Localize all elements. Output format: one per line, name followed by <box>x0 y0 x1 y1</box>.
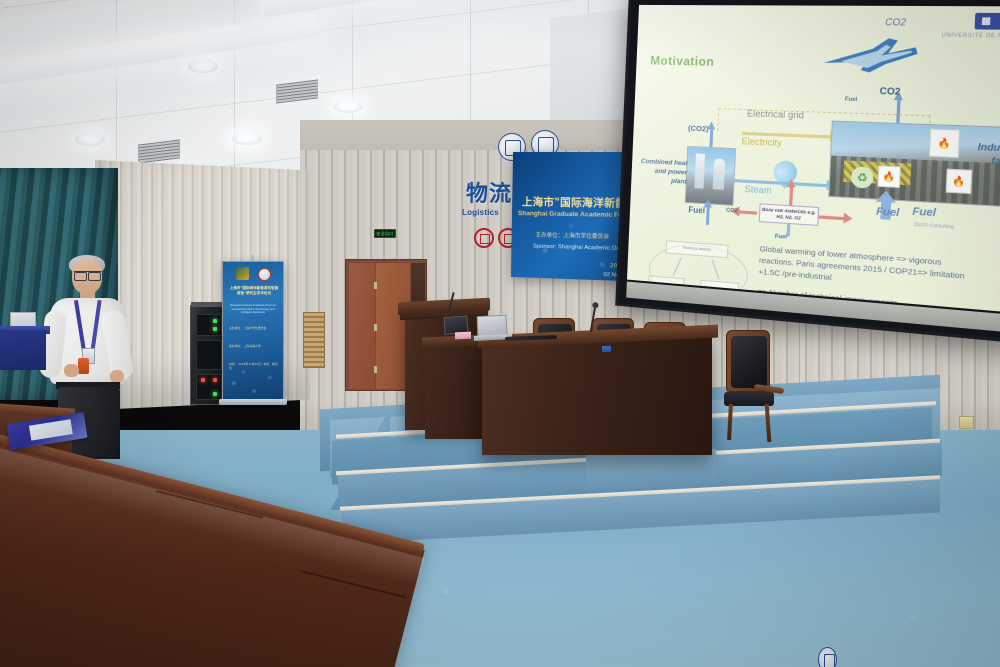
rack-panel-3 <box>196 374 222 400</box>
rollup-logo-1-icon <box>236 267 249 280</box>
head-table-left-segment <box>425 343 487 439</box>
wall-outlet-plate <box>959 416 974 429</box>
university-logo-icon <box>975 13 1000 30</box>
flame-icon-1 <box>929 128 961 158</box>
rack-led-red-1 <box>213 378 217 382</box>
rollup-logo-2-icon <box>258 268 271 281</box>
slide-label-co2-left: CO2 <box>726 208 738 215</box>
downlight-1 <box>188 60 218 73</box>
raw-materials-text: Base raw materials e.g. H2, N2, O2 <box>760 207 818 223</box>
door-hinge-3 <box>374 366 377 373</box>
chair-4-back <box>726 330 770 392</box>
airplane-icon <box>819 31 924 78</box>
podium-emblem-icon <box>818 647 837 667</box>
arrow-fuel-bottom <box>787 224 790 237</box>
rack-led-green-1 <box>213 319 217 323</box>
slide-label-fuel-left: Fuel <box>688 205 705 215</box>
rollup-banner: 上海市"国际海洋新能源与智能装备"研究生学术论坛 Shanghai Gradua… <box>222 261 284 401</box>
rack-panel-2 <box>196 340 222 370</box>
presenter-glasses-icon <box>74 271 101 278</box>
door-leaf-left <box>349 263 375 389</box>
slide-label-co2-top: CO2 <box>885 17 906 28</box>
downlight-2 <box>75 133 105 146</box>
downlight-4 <box>333 100 363 113</box>
wall-sign-chinese: 物流 <box>466 176 512 208</box>
rollup-row-1: 主办单位： 上海市学位委员会 <box>229 326 279 330</box>
rack-led-green-2 <box>213 327 217 331</box>
lecture-hall-scene: 物流 Logistics 上海市"国际海洋新能源与..." Shanghai G… <box>0 0 1000 667</box>
power-plant-photo <box>685 146 736 206</box>
wall-air-vent-grille <box>303 312 325 368</box>
wall-sign-english: Logistics <box>462 208 499 217</box>
slide-label-fuel-plane: Fuel <box>845 96 858 103</box>
side-table <box>0 330 46 370</box>
slide-title: Motivation <box>650 53 715 69</box>
arrow-fuel-into-chp <box>706 206 710 225</box>
rack-led-green-3 <box>213 392 217 396</box>
slide-label-co2-mid: CO2 <box>879 86 900 97</box>
rollup-title-cn: 上海市"国际海洋新能源与智能装备"研究生学术论坛 <box>228 286 280 297</box>
exit-sign: 安全出口 <box>374 229 396 238</box>
door-hinge-1 <box>374 282 377 289</box>
flame-icon-2 <box>877 165 901 188</box>
door-hinge-2 <box>374 324 377 331</box>
arrow-co2-left <box>738 210 757 214</box>
slide-content: UNIVERSITÉ DE NANTES Motivation CO2 Fuel… <box>627 5 1000 314</box>
rack-led-red-2 <box>201 378 205 382</box>
head-table <box>482 337 712 455</box>
flame-icon-3 <box>946 169 973 194</box>
slide-label-chp: Combined heat and power plant <box>639 158 688 187</box>
desk-blue-object <box>602 346 611 352</box>
slide-label-electrical-grid: Electrical grid <box>747 108 804 120</box>
raw-materials-box: Base raw materials e.g. H2, N2, O2 <box>759 203 819 226</box>
slide-label-steam: Steam <box>744 184 772 196</box>
arrow-raw-up <box>789 186 793 205</box>
slide-label-industrial-facility: Industrial facility <box>956 140 1000 169</box>
rollup-texture <box>223 344 283 400</box>
slide-label-fuel-bottom: Fuel <box>775 234 787 241</box>
presenter-hand-left <box>64 364 79 377</box>
rollup-subtitle-en: Shanghai Graduate Academic Forum on Inte… <box>226 304 280 315</box>
rollup-row-2: 承办单位： 上海海事大学 <box>229 344 279 348</box>
arrow-raw-right <box>819 215 845 219</box>
arrow-co2-up-chp <box>709 128 713 147</box>
slide-label-fuel-right-2: Fuel <box>912 206 936 219</box>
university-logo-text: UNIVERSITÉ DE NANTES <box>941 32 1000 40</box>
desk-paper <box>455 332 471 340</box>
slide-label-fuel-right-1: Fuel <box>876 206 900 219</box>
projection-screen: UNIVERSITÉ DE NANTES Motivation CO2 Fuel… <box>615 0 1000 345</box>
presentation-clicker[interactable] <box>78 358 89 374</box>
equipment-rack <box>190 305 226 405</box>
rack-panel-1 <box>196 314 222 336</box>
slide-label-consulting: (DLGI Consulting <box>914 221 954 229</box>
projected-slide-surface: UNIVERSITÉ DE NANTES Motivation CO2 Fuel… <box>627 5 1000 314</box>
exit-sign-label: 安全出口 <box>376 231 393 237</box>
chair-4-pad <box>731 336 767 388</box>
rollup-row-3: 时间： 2023年11月02日 / 地点：物流馆 <box>229 362 279 370</box>
slide-label-electricity: Electricity <box>741 136 782 148</box>
slide-label-co2-paren: (CO2) <box>688 124 709 134</box>
rollup-base <box>219 399 287 405</box>
wall-seal-1-icon <box>474 228 494 248</box>
downlight-3 <box>232 132 262 145</box>
technical-aspects-text: Technical aspects <box>682 246 711 253</box>
